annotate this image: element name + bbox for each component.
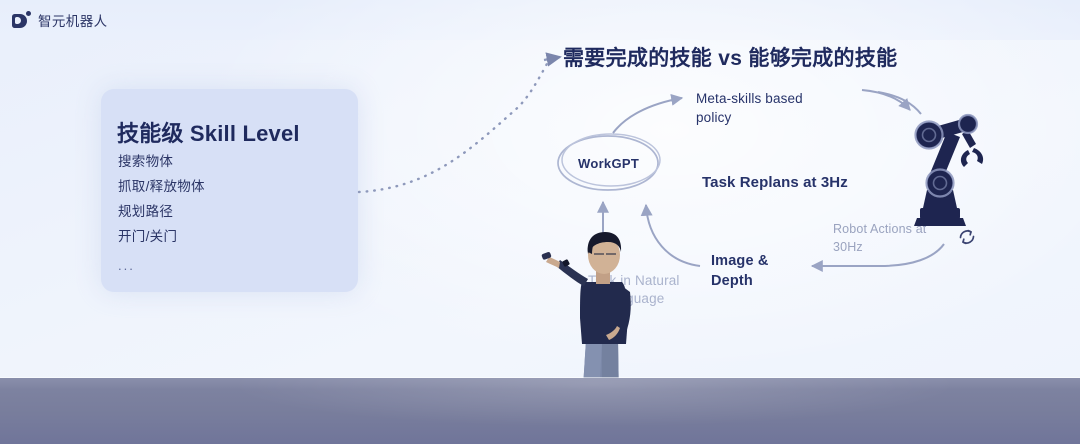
- label-image-depth: Image & Depth: [711, 251, 768, 291]
- arrow-to-meta-skills: [613, 98, 682, 133]
- label-meta-skills-policy: Meta-skills based policy: [696, 90, 803, 127]
- robot-arm-icon: [890, 104, 990, 234]
- label-workgpt: WorkGPT: [578, 155, 639, 173]
- stage-floor-reflection: [0, 378, 1080, 444]
- label-task-replans: Task Replans at 3Hz: [702, 173, 848, 194]
- presentation-screenshot: 智元机器人 技能级 Skill Level 搜索物体 抓取/释放物体 规划路径 …: [0, 0, 1080, 444]
- dotted-connector-arrow: [359, 57, 560, 192]
